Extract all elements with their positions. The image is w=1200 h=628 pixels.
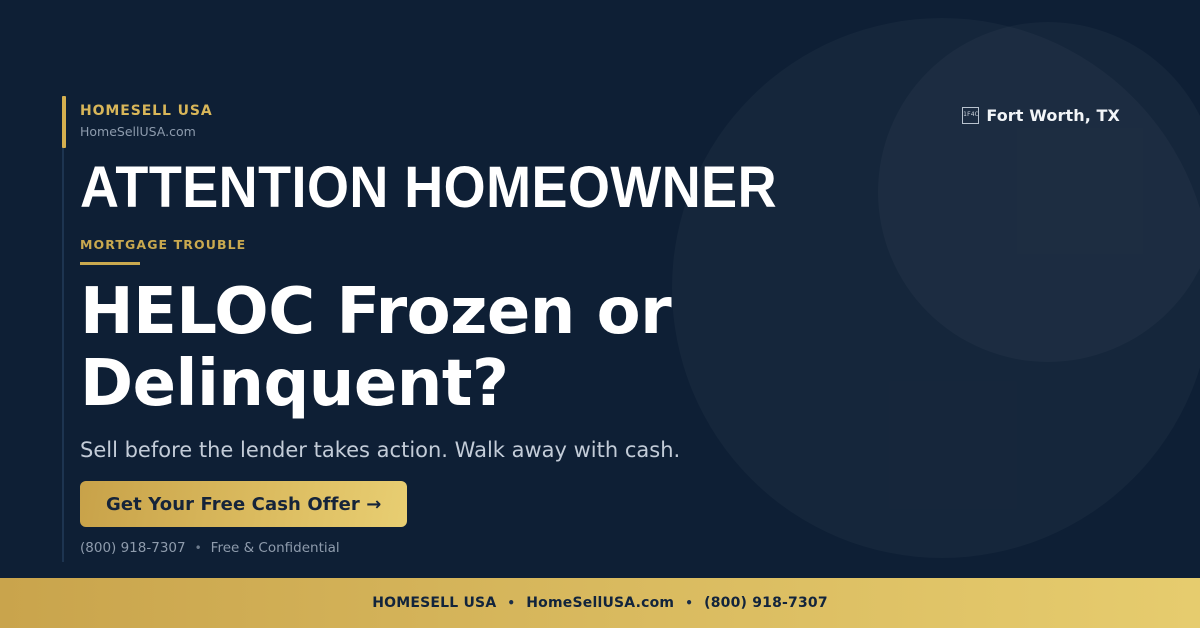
contact-line: (800) 918-7307 • Free & Confidential bbox=[80, 541, 340, 556]
hero-content: HOMESELL USA HomeSellUSA.com 01F4CD Fort… bbox=[80, 0, 1120, 578]
left-rail-gold-accent bbox=[62, 96, 66, 148]
brand-url: HomeSellUSA.com bbox=[80, 125, 213, 139]
pin-glyph-hex-line2: 4CD bbox=[971, 112, 980, 119]
eyebrow-underline bbox=[80, 262, 140, 265]
eyebrow-block: MORTGAGE TROUBLE bbox=[80, 238, 246, 265]
eyebrow-label: MORTGAGE TROUBLE bbox=[80, 238, 246, 252]
ad-canvas: HOMESELL USA HomeSellUSA.com 01F4CD Fort… bbox=[0, 0, 1200, 628]
contact-separator: • bbox=[195, 542, 202, 555]
pin-glyph-hex-line1: 01F bbox=[962, 112, 971, 119]
cta-button[interactable]: Get Your Free Cash Offer → bbox=[80, 481, 407, 527]
contact-note: Free & Confidential bbox=[211, 541, 340, 556]
brand-name: HOMESELL USA bbox=[80, 104, 213, 119]
page-title: HELOC Frozen or Delinquent? bbox=[80, 276, 720, 420]
footer-brand: HOMESELL USA bbox=[372, 595, 496, 611]
footer-url[interactable]: HomeSellUSA.com bbox=[526, 595, 674, 611]
contact-phone[interactable]: (800) 918-7307 bbox=[80, 541, 186, 556]
footer-bar: HOMESELL USA • HomeSellUSA.com • (800) 9… bbox=[0, 578, 1200, 628]
sub-headline: Sell before the lender takes action. Wal… bbox=[80, 436, 680, 464]
left-rail-line bbox=[62, 96, 64, 562]
footer-separator-1: • bbox=[507, 596, 515, 610]
location-badge: 01F4CD Fort Worth, TX bbox=[962, 106, 1120, 125]
footer-separator-2: • bbox=[685, 596, 693, 610]
location-label: Fort Worth, TX bbox=[986, 106, 1120, 125]
brand-block: HOMESELL USA HomeSellUSA.com bbox=[80, 104, 213, 139]
footer-content: HOMESELL USA • HomeSellUSA.com • (800) 9… bbox=[372, 595, 828, 611]
attention-headline: ATTENTION HOMEOWNER bbox=[80, 159, 777, 217]
header-row: HOMESELL USA HomeSellUSA.com 01F4CD Fort… bbox=[80, 104, 1120, 139]
location-pin-icon: 01F4CD bbox=[962, 107, 979, 124]
footer-phone[interactable]: (800) 918-7307 bbox=[704, 595, 828, 611]
